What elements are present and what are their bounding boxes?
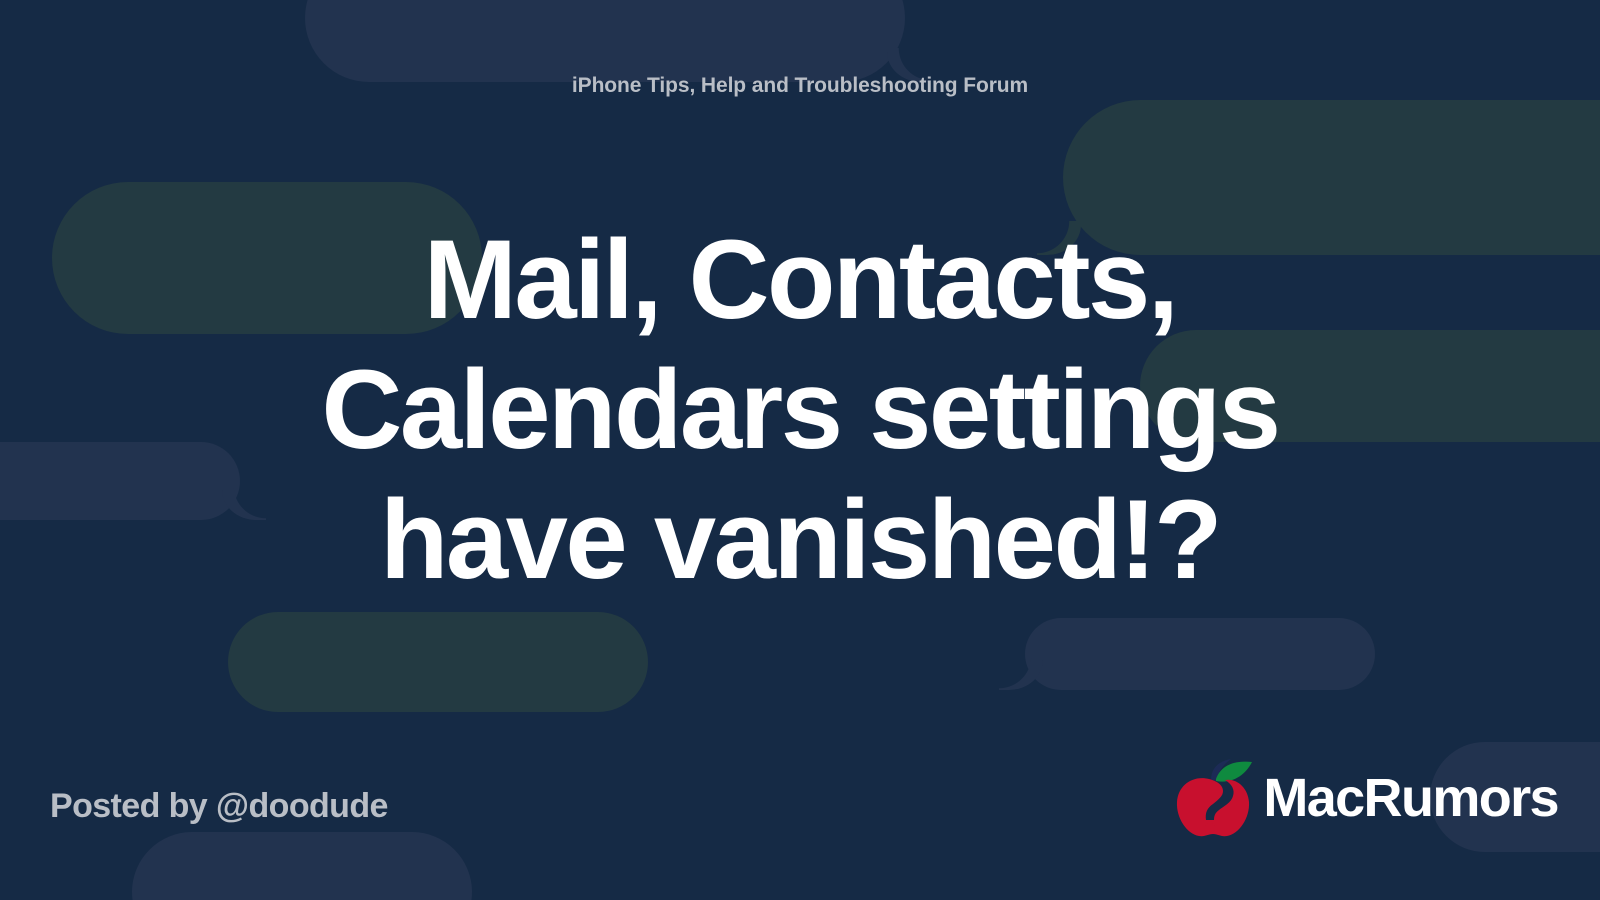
card-content: iPhone Tips, Help and Troubleshooting Fo…: [0, 0, 1600, 900]
post-author-byline: Posted by @doodude: [50, 787, 388, 826]
macrumors-apple-question-mark-icon: [1171, 758, 1257, 838]
macrumors-brand-lockup: MacRumors: [1171, 758, 1558, 838]
page-title: Mail, Contacts, Calendars settings have …: [270, 215, 1330, 605]
social-share-card: iPhone Tips, Help and Troubleshooting Fo…: [0, 0, 1600, 900]
macrumors-wordmark: MacRumors: [1263, 771, 1558, 825]
post-title-container: Mail, Contacts, Calendars settings have …: [60, 200, 1540, 620]
forum-name-label: iPhone Tips, Help and Troubleshooting Fo…: [0, 74, 1600, 98]
